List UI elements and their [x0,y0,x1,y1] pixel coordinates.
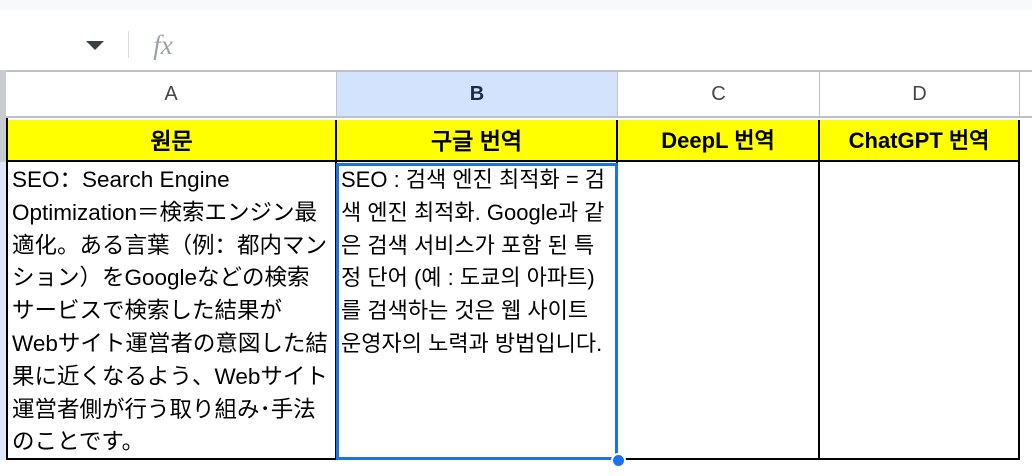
cell-b1-text: 구글 번역 [431,128,522,154]
cell-b2-text: SEO : 검색 엔진 최적화 = 검색 엔진 최적화. Google과 같은 … [341,164,612,361]
toolbar-strip [0,0,1032,10]
cell-d1[interactable]: ChatGPT 번역 [820,120,1020,162]
column-header-c[interactable]: C [618,72,820,116]
cell-a1[interactable]: 원문 [8,120,337,162]
column-header-b[interactable]: B [337,72,618,116]
cell-c2[interactable] [618,162,820,460]
fill-handle[interactable] [611,453,626,468]
cell-c1-text: DeepL 번역 [661,128,774,153]
cell-c1[interactable]: DeepL 번역 [618,120,820,162]
cell-a1-text: 원문 [150,128,192,154]
cell-a2-text: SEO：Search Engine Optimization＝検索エンジン最適化… [12,164,331,459]
cell-a2[interactable]: SEO：Search Engine Optimization＝検索エンジン最適化… [8,162,337,460]
formula-bar-divider [128,31,129,58]
cell-d2[interactable] [820,162,1020,460]
column-header-a[interactable]: A [6,72,337,116]
sheet-grid: 원문 구글 번역 DeepL 번역 ChatGPT 번역 SEO：Search … [0,118,1032,476]
spreadsheet-app: fx =GOOGLETRANSLATE(A2,"auto","ko") A B … [0,0,1032,476]
formula-input[interactable]: =GOOGLETRANSLATE(A2,"auto","ko") [190,27,724,63]
cell-b2[interactable]: SEO : 검색 엔진 최적화 = 검색 엔진 최적화. Google과 같은 … [337,162,618,460]
chevron-down-icon[interactable] [86,41,104,50]
column-header-d[interactable]: D [820,72,1020,116]
cell-d1-text: ChatGPT 번역 [849,128,990,153]
formula-bar[interactable]: fx =GOOGLETRANSLATE(A2,"auto","ko") [0,10,1032,68]
cell-b1[interactable]: 구글 번역 [337,120,618,162]
fx-icon[interactable]: fx [148,29,178,61]
